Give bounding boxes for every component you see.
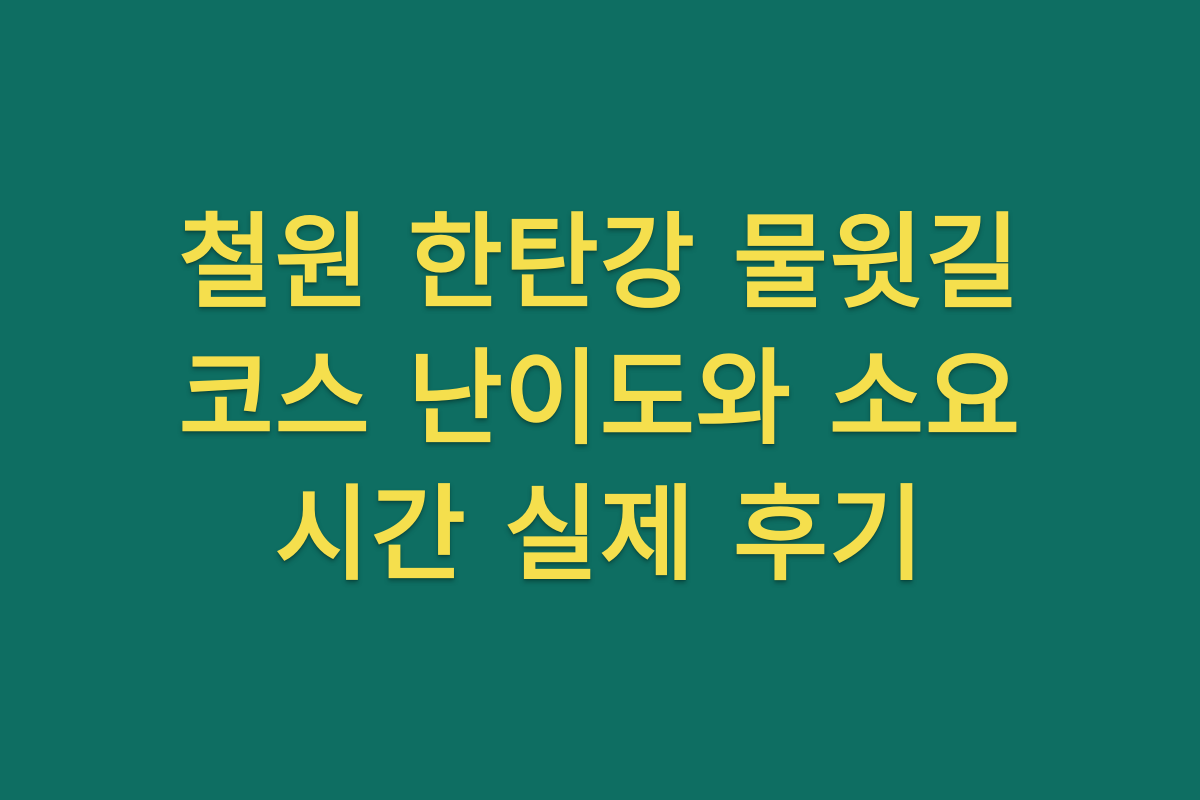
title-block: 철원 한탄강 물윗길 코스 난이도와 소요 시간 실제 후기 (75, 196, 1125, 604)
page-title: 철원 한탄강 물윗길 코스 난이도와 소요 시간 실제 후기 (85, 196, 1115, 604)
thumbnail-card: 철원 한탄강 물윗길 코스 난이도와 소요 시간 실제 후기 (0, 0, 1200, 800)
